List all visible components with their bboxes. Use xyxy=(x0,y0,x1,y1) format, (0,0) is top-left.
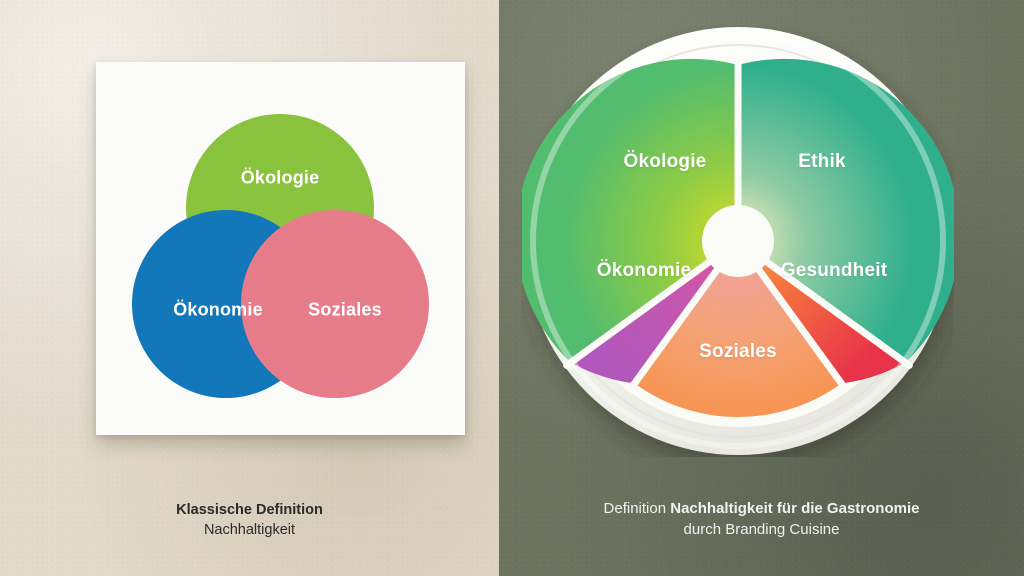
right-caption-emphasis: Nachhaltigkeit für die Gastronomie xyxy=(670,500,919,517)
right-caption: Definition Nachhaltigkeit für die Gastro… xyxy=(499,498,1024,541)
left-caption-title: Klassische Definition xyxy=(0,500,499,520)
right-caption-title: Definition Nachhaltigkeit für die Gastro… xyxy=(499,498,1024,519)
wheel-hub xyxy=(702,205,774,277)
left-caption-subtitle: Nachhaltigkeit xyxy=(0,520,499,540)
venn-circle-soziales xyxy=(241,210,429,398)
plate-svg xyxy=(522,25,954,457)
venn-card: Ökologie Ökonomie Soziales xyxy=(96,62,465,435)
right-caption-subtitle: durch Branding Cuisine xyxy=(499,519,1024,540)
right-caption-prefix: Definition xyxy=(604,500,671,517)
left-panel: Ökologie Ökonomie Soziales Klassische De… xyxy=(0,0,499,576)
slide-root: Ökologie Ökonomie Soziales Klassische De… xyxy=(0,0,1024,576)
venn-diagram xyxy=(96,62,465,435)
plate-wheel: Ethik Gesundheit Soziales Ökonomie Ökolo… xyxy=(522,25,954,457)
left-caption: Klassische Definition Nachhaltigkeit xyxy=(0,500,499,540)
